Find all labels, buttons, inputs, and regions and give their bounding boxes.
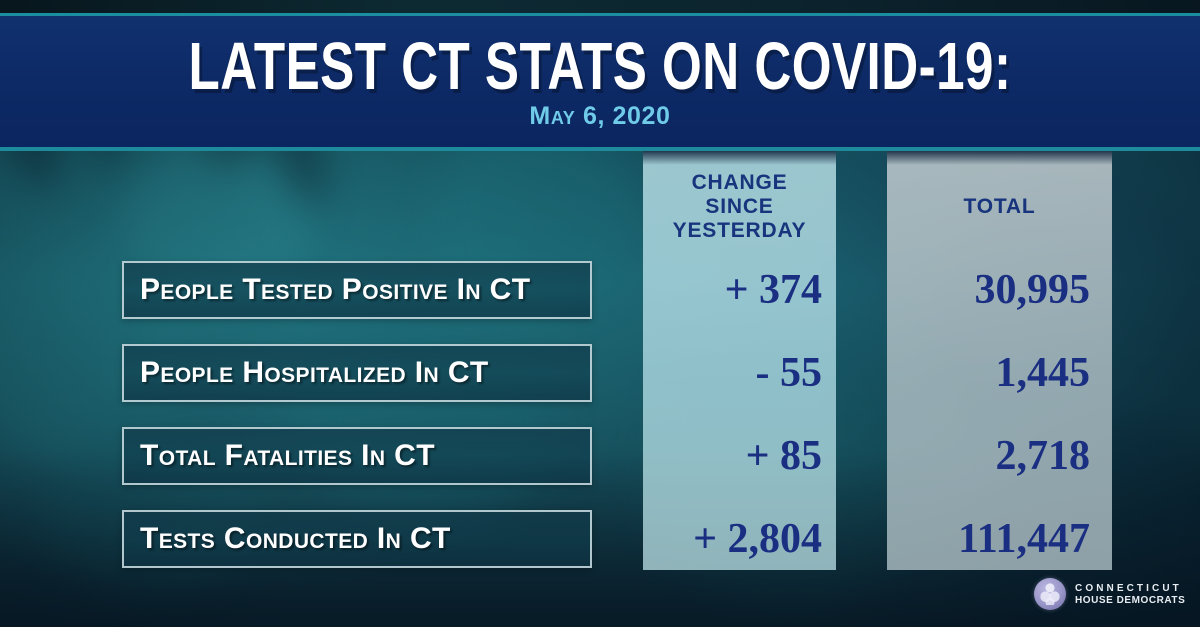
total-value: 30,995 — [887, 261, 1112, 319]
change-header-line-1: CHANGE — [643, 171, 836, 195]
table-row: Tests Conducted In CT + 2,804 111,447 — [0, 510, 1200, 568]
header-band: LATEST CT STATS ON COVID-19: May 6, 2020 — [0, 16, 1200, 147]
change-column-header: CHANGE SINCE YESTERDAY — [643, 171, 836, 243]
metric-label-box: Tests Conducted In CT — [122, 510, 592, 568]
report-date: May 6, 2020 — [0, 104, 1200, 129]
change-header-line-3: YESTERDAY — [643, 219, 836, 243]
total-value: 2,718 — [887, 427, 1112, 485]
metric-label-box: People Hospitalized In CT — [122, 344, 592, 402]
logo-line-house-democrats: HOUSE DEMOCRATS — [1075, 595, 1185, 607]
change-value: - 55 — [643, 344, 836, 402]
total-column-header: TOTAL — [887, 195, 1112, 219]
metric-label: People Hospitalized In CT — [140, 358, 489, 388]
metric-label: Tests Conducted In CT — [140, 524, 451, 554]
metric-label: People Tested Positive In CT — [140, 275, 530, 305]
change-value: + 85 — [643, 427, 836, 485]
change-value: + 2,804 — [643, 510, 836, 568]
metric-label-box: People Tested Positive In CT — [122, 261, 592, 319]
change-value: + 374 — [643, 261, 836, 319]
covid-stats-infographic: LATEST CT STATS ON COVID-19: May 6, 2020… — [0, 0, 1200, 627]
metric-label-box: Total Fatalities In CT — [122, 427, 592, 485]
logo-wordmark: CONNECTICUT HOUSE DEMOCRATS — [1075, 582, 1185, 607]
table-row: People Hospitalized In CT - 55 1,445 — [0, 344, 1200, 402]
logo-line-connecticut: CONNECTICUT — [1075, 582, 1185, 595]
page-title: LATEST CT STATS ON COVID-19: — [42, 33, 1158, 100]
top-dark-strip — [0, 0, 1200, 13]
total-value: 111,447 — [887, 510, 1112, 568]
change-header-line-2: SINCE — [643, 195, 836, 219]
table-row: People Tested Positive In CT + 374 30,99… — [0, 261, 1200, 319]
state-seal-icon — [1034, 578, 1066, 610]
table-row: Total Fatalities In CT + 85 2,718 — [0, 427, 1200, 485]
total-value: 1,445 — [887, 344, 1112, 402]
metric-label: Total Fatalities In CT — [140, 441, 435, 471]
organization-logo: CONNECTICUT HOUSE DEMOCRATS — [1034, 578, 1185, 610]
